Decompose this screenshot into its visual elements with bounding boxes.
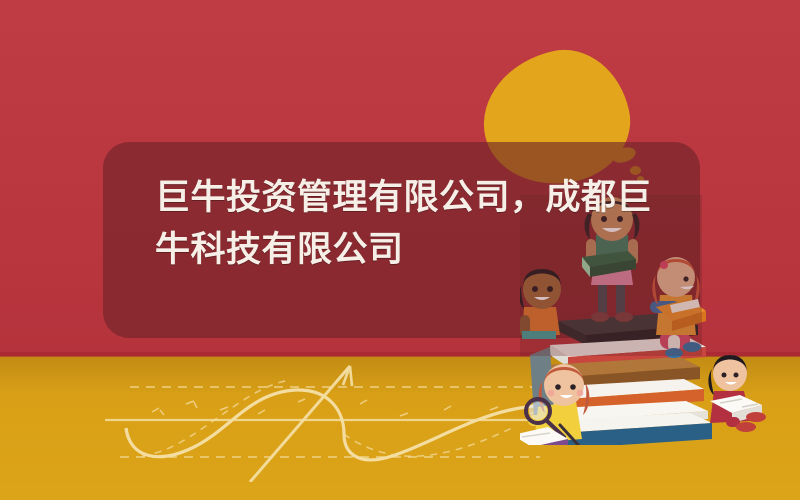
- boy-sitting-reading: [708, 355, 766, 432]
- banner-canvas: 巨牛投资管理有限公司，成都巨牛科技有限公司: [0, 0, 800, 500]
- boy-peeking-left: [520, 269, 561, 339]
- page-title: 巨牛投资管理有限公司，成都巨牛科技有限公司: [155, 172, 675, 276]
